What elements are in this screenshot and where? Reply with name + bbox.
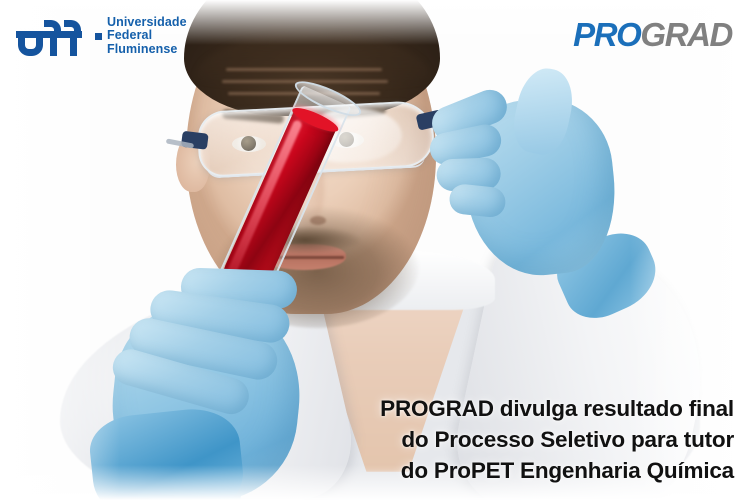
headline-line-1: PROGRAD divulga resultado final: [264, 393, 734, 424]
glove-finger: [448, 183, 507, 219]
uff-line-2: Federal: [107, 29, 187, 43]
forehead-wrinkle: [226, 68, 382, 71]
headline-line-3: do ProPET Engenharia Química: [264, 455, 734, 486]
prograd-pro-text: PRO: [573, 16, 640, 53]
banner: Universidade Federal Fluminense PROGRAD …: [0, 0, 750, 500]
prograd-grad-text: GRAD: [640, 16, 732, 53]
headline: PROGRAD divulga resultado final do Proce…: [264, 393, 734, 486]
uff-mark-icon: [14, 14, 86, 58]
uff-bullet-icon: [95, 33, 102, 40]
prograd-logo[interactable]: PROGRAD: [573, 16, 732, 54]
uff-university-name: Universidade Federal Fluminense: [107, 16, 187, 57]
uff-wordmark: Universidade Federal Fluminense: [95, 16, 187, 57]
gloved-hand-right: [421, 64, 641, 303]
uff-line-3: Fluminense: [107, 43, 187, 57]
uff-line-1: Universidade: [107, 16, 187, 30]
headline-line-2: do Processo Seletivo para tutor: [264, 424, 734, 455]
uff-logo[interactable]: Universidade Federal Fluminense: [14, 14, 187, 58]
